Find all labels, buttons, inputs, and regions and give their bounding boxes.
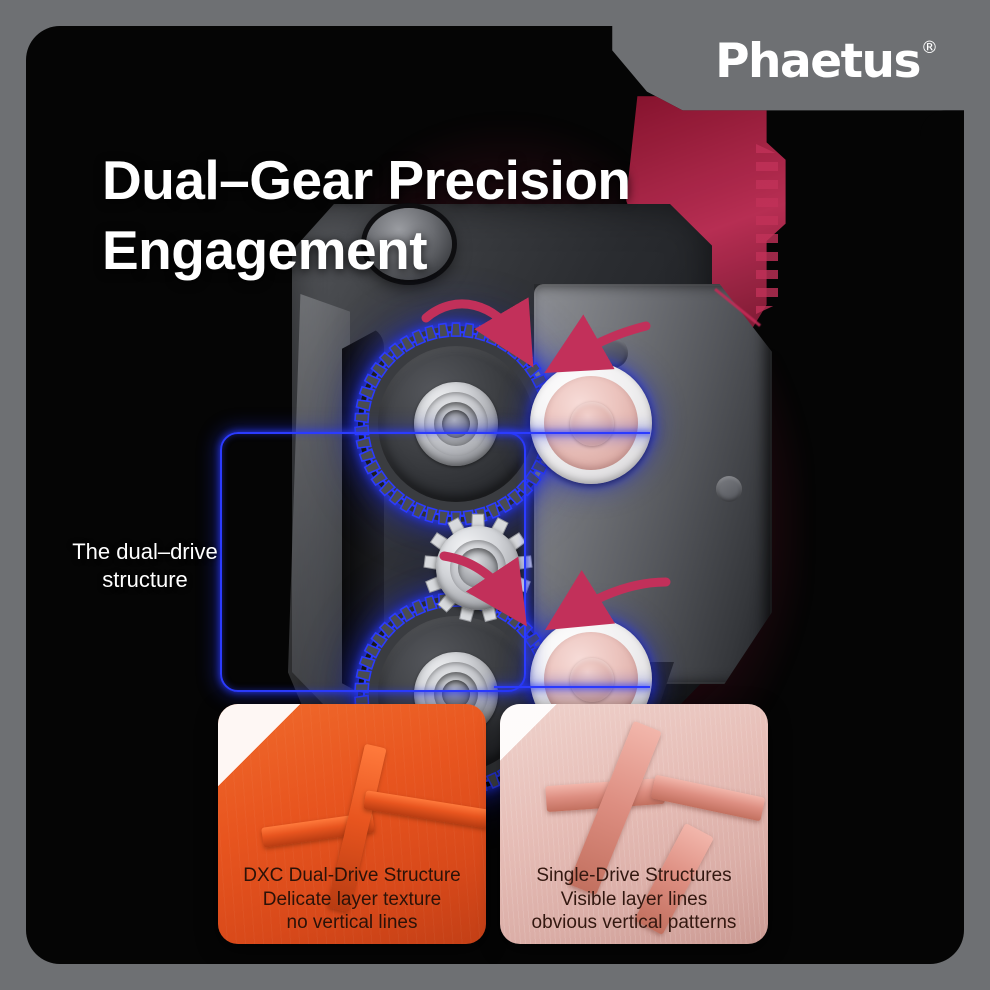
single-drive-caption: Single-Drive Structures Visible layer li… (500, 864, 768, 934)
bracket-lead-line-top (494, 432, 650, 434)
dual-drive-bracket (220, 432, 526, 692)
phaetus-logo: Phaetus ® (715, 38, 938, 85)
dual-drive-caption: DXC Dual-Drive Structure Delicate layer … (218, 864, 486, 934)
poster-root: The dual–drive structure DXC Dual-Drive … (0, 0, 990, 990)
content-card: The dual–drive structure DXC Dual-Drive … (26, 26, 964, 964)
bracket-lead-line-bottom (494, 686, 650, 688)
inset-single-drive-sample[interactable]: Single-Drive Structures Visible layer li… (500, 704, 768, 944)
lower-roller-boss (570, 658, 614, 702)
inset-dual-drive-sample[interactable]: DXC Dual-Drive Structure Delicate layer … (218, 704, 486, 944)
upper-roller-boss (570, 402, 614, 446)
page-title: Dual–Gear Precision Engagement (102, 145, 762, 286)
registered-trademark-icon: ® (921, 40, 938, 57)
dual-drive-annotation-label: The dual–drive structure (34, 538, 256, 594)
cover-hole-lower (716, 476, 742, 502)
logo-wordmark: Phaetus (715, 38, 920, 85)
